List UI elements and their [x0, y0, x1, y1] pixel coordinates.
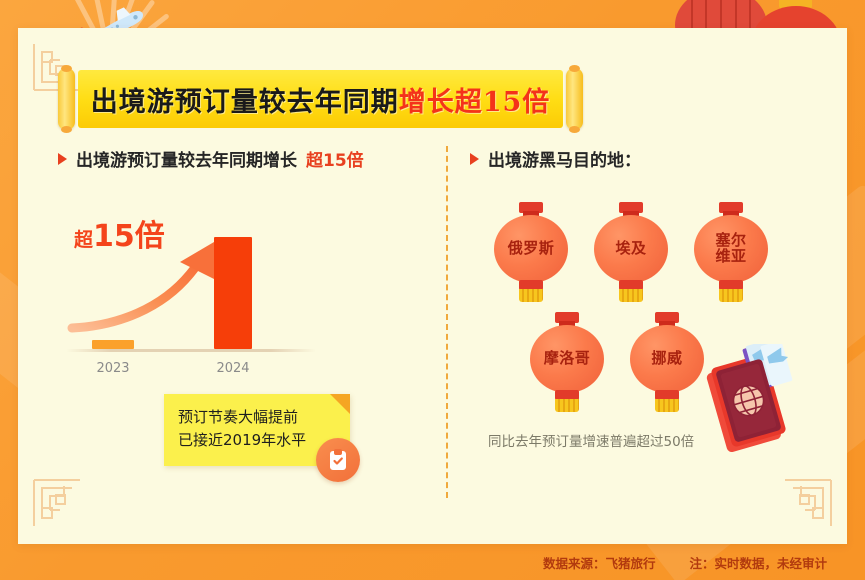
left-heading-highlight: 超15倍: [306, 146, 364, 171]
lantern-fringe-icon: [619, 289, 643, 302]
lantern-fringe-icon: [719, 289, 743, 302]
passport-tickets-icon: [702, 344, 822, 464]
triangle-bullet-icon: [470, 153, 479, 165]
lantern-globe: 俄罗斯: [494, 215, 568, 283]
lantern-fringe-icon: [519, 289, 543, 302]
footer-bar: 数据来源：飞猪旅行 注：实时数据，未经审计: [0, 544, 865, 580]
note-line-1: 预订节奏大幅提前: [178, 406, 338, 429]
destination-label: 摩洛哥: [544, 351, 591, 367]
destination-label: 挪威: [651, 351, 682, 367]
page-title: 出境游预订量较去年同期增长超15倍: [91, 80, 551, 119]
growth-annotation-large: 15倍: [93, 219, 165, 254]
scroll-roll-left: [58, 68, 75, 130]
right-column: 出境游黑马目的地： 俄罗斯 埃及: [470, 146, 830, 506]
destination-label: 塞尔 维亚: [715, 233, 746, 265]
disclaimer-label: 注：实时数据，未经审计: [689, 553, 827, 572]
growth-annotation: 超15倍: [74, 222, 165, 252]
lantern-globe: 塞尔 维亚: [694, 215, 768, 283]
column-divider: [446, 146, 448, 498]
destination-label: 俄罗斯: [508, 241, 555, 257]
destination-lantern[interactable]: 摩洛哥: [528, 312, 606, 412]
lantern-globe: 埃及: [594, 215, 668, 283]
left-heading-plain: 出境游预订量较去年同期增长: [76, 146, 297, 171]
destination-lantern[interactable]: 挪威: [628, 312, 706, 412]
chart-baseline: [66, 349, 316, 352]
right-section-heading: 出境游黑马目的地：: [470, 146, 830, 171]
growth-annotation-small: 超: [74, 229, 93, 251]
destination-lantern-row-2: 摩洛哥 挪威: [528, 312, 706, 412]
destination-lantern[interactable]: 埃及: [592, 202, 670, 302]
destination-label: 埃及: [615, 241, 646, 257]
x-tick-2024: 2024: [198, 361, 268, 376]
lantern-globe: 摩洛哥: [530, 325, 604, 393]
bar-2024: [214, 237, 252, 349]
note-line-2: 已接近2019年水平: [178, 429, 338, 452]
destination-lantern[interactable]: 塞尔 维亚: [692, 202, 770, 302]
x-tick-2023: 2023: [78, 361, 148, 376]
bar-2023: [92, 340, 134, 349]
left-section-heading: 出境游预订量较去年同期增长超15倍: [58, 146, 428, 171]
left-column: 出境游预订量较去年同期增长超15倍 超15倍: [58, 146, 428, 506]
lantern-fringe-icon: [655, 399, 679, 412]
right-sub-note: 同比去年预订量增速普遍超过50倍: [488, 430, 694, 450]
scroll-roll-right: [566, 68, 583, 130]
page-title-highlight: 增长超15倍: [399, 87, 551, 118]
destination-lantern-row-1: 俄罗斯 埃及 塞尔 维亚: [492, 202, 770, 302]
title-banner-body: 出境游预订量较去年同期增长超15倍: [78, 70, 563, 128]
right-heading-label: 出境游黑马目的地：: [488, 146, 641, 171]
data-source-label: 数据来源：飞猪旅行: [543, 553, 656, 572]
triangle-bullet-icon: [58, 153, 67, 165]
lantern-globe: 挪威: [630, 325, 704, 393]
lantern-fringe-icon: [555, 399, 579, 412]
infographic-card: 出境游预订量较去年同期增长超15倍 出境游预订量较去年同期增长超15倍: [18, 28, 847, 544]
title-banner: 出境游预订量较去年同期增长超15倍: [58, 68, 583, 130]
destination-lantern[interactable]: 俄罗斯: [492, 202, 570, 302]
page-title-plain: 出境游预订量较去年同期: [91, 87, 399, 118]
note-text: 预订节奏大幅提前 已接近2019年水平: [178, 406, 338, 453]
clipboard-check-icon: [316, 438, 360, 482]
growth-bar-chart: 超15倍 2023 2024: [66, 218, 316, 378]
